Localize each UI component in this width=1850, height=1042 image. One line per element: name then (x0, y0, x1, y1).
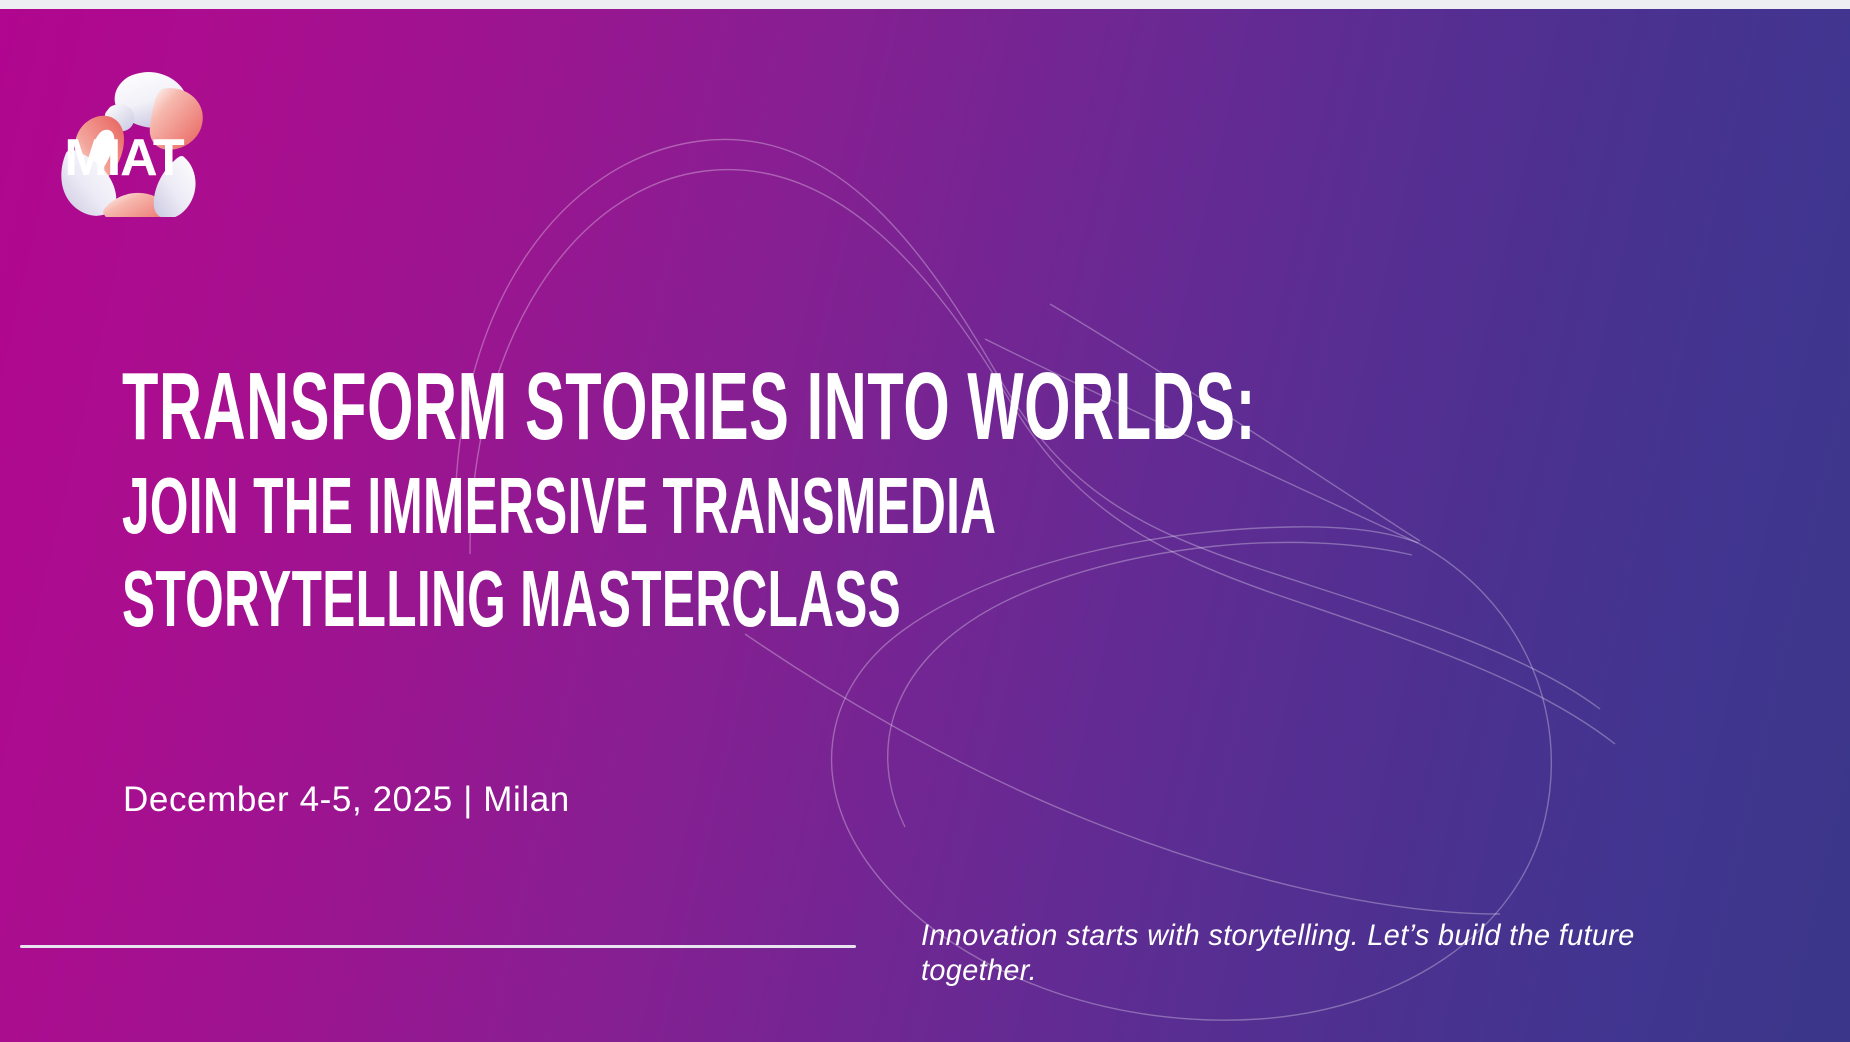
footer-tagline: Innovation starts with storytelling. Let… (921, 918, 1737, 988)
headline-line-1: TRANSFORM STORIES INTO WORLDS: (122, 355, 1256, 459)
miat-logo: MIAT (44, 57, 204, 217)
logo-wordmark: MIAT (64, 129, 184, 187)
event-dateline: December 4-5, 2025 | Milan (123, 780, 570, 820)
top-edge-strip (0, 0, 1850, 9)
footer-divider-rule (20, 945, 856, 948)
presentation-slide: MIAT TRANSFORM STORIES INTO WORLDS: JOIN… (0, 0, 1850, 1042)
headline-block: TRANSFORM STORIES INTO WORLDS: JOIN THE … (122, 355, 1850, 645)
headline-line-2: JOIN THE IMMERSIVE TRANSMEDIA (122, 459, 1256, 552)
headline-line-3: STORYTELLING MASTERCLASS (122, 552, 1256, 645)
